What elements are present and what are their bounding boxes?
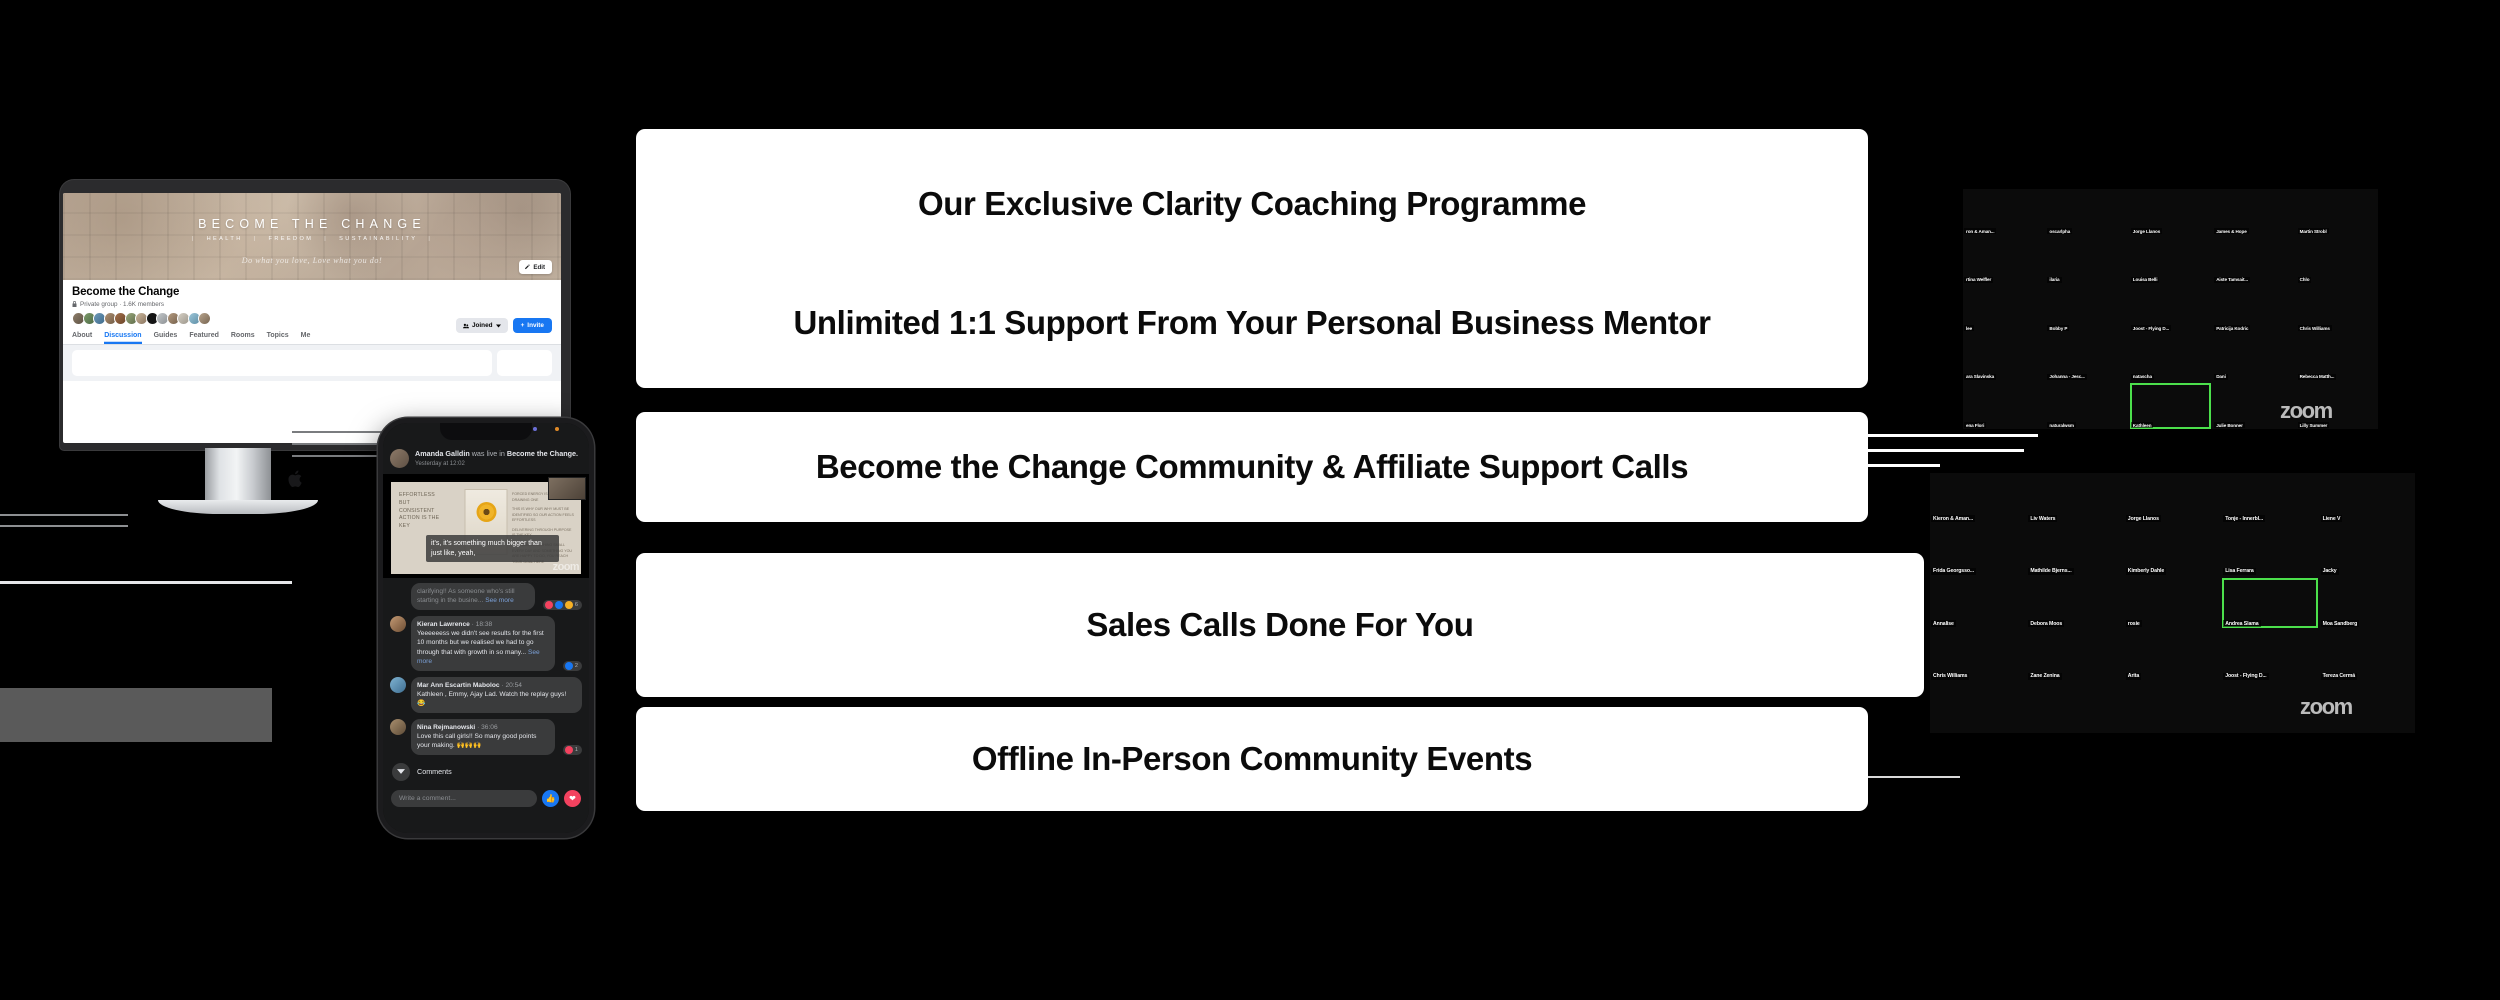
zoom-participant-tile[interactable] [1930, 683, 2025, 733]
list-item: Kieran Lawrence · 18:38 Yeeeeeess we did… [383, 613, 589, 674]
zoom-participant-tile[interactable]: ena Flori [1963, 383, 2044, 429]
participant-name-label: ena Flori [1964, 422, 1986, 428]
like-reaction-icon [555, 601, 563, 609]
participant-video [2027, 683, 2122, 733]
tab-rooms[interactable]: Rooms [231, 332, 255, 344]
edit-label: Edit [533, 264, 545, 271]
zoom-participant-tile[interactable] [2320, 683, 2415, 733]
participant-name-label: Andrea Slama [2223, 620, 2260, 627]
comments-label: Comments [417, 767, 452, 776]
zoom-participant-tile[interactable]: Liv Waters [2027, 473, 2122, 523]
cover-tag-freedom: FREEDOM [269, 236, 314, 242]
zoom-participant-tile[interactable]: Tereza Čermá [2320, 630, 2415, 680]
participant-name-label: Johanna - Jesc... [2047, 374, 2086, 380]
participant-name-label: naturalwsm [2047, 422, 2076, 428]
zoom-participant-tile[interactable]: Rebecca Matth... [2297, 334, 2378, 380]
participant-name-label: Aiste Tamsait... [2214, 277, 2250, 283]
comment-time: · 20:54 [501, 682, 522, 689]
participant-name-label: Chris Williams [1931, 673, 1969, 680]
comments-toggle-row[interactable]: Comments [383, 758, 589, 786]
tab-discussion[interactable]: Discussion [104, 332, 141, 344]
post-target-group: Become the Change. [507, 449, 578, 458]
participant-name-label: ilaria [2047, 277, 2061, 283]
post-timestamp: Yesterday at 12:02 [415, 461, 578, 467]
people-icon [463, 323, 469, 329]
zoom-participant-tile[interactable]: rtina Welfler [1963, 237, 2044, 283]
lock-icon [72, 301, 77, 307]
comment-truncated: clarifying!! As someone who's still star… [383, 578, 589, 613]
participant-video [2320, 683, 2415, 733]
live-caption: it's, it's something much bigger than ju… [426, 535, 559, 562]
participant-name-label: rtina Welfler [1964, 277, 1993, 283]
participant-name-label: Mathilde Bjerns... [2028, 568, 2073, 575]
participant-video [2222, 683, 2317, 733]
zoom-participant-tile[interactable]: Julie Bonner [2213, 383, 2294, 429]
zoom-participant-tile[interactable]: Tonje - Innerbl... [2222, 473, 2317, 523]
participant-video [2125, 683, 2220, 733]
zoom-participant-tile[interactable]: oscarlpha [2046, 189, 2127, 235]
zoom-participant-tile[interactable]: Chris Williams [1930, 630, 2025, 680]
reaction-pill[interactable]: 1 [563, 745, 582, 755]
pencil-icon [524, 264, 530, 270]
facebook-group-screen: BECOME THE CHANGE |HEALTH|FREEDOM|SUSTAI… [63, 193, 561, 443]
zoom-participant-tile[interactable]: rosie [2125, 578, 2220, 628]
like-reaction-icon [565, 662, 573, 670]
zoom-participant-tile[interactable]: Frida Georgsso... [1930, 525, 2025, 575]
participant-name-label: James & Hope [2214, 228, 2248, 234]
participant-name-label: Kieron & Aman... [1931, 515, 1975, 522]
cover-tags: |HEALTH|FREEDOM|SUSTAINABILITY| [63, 236, 561, 242]
connector-right-3 [1868, 464, 1940, 467]
invite-label: Invite [527, 322, 544, 329]
promo-canvas: BECOME THE CHANGE |HEALTH|FREEDOM|SUSTAI… [0, 0, 2500, 1000]
participant-name-label: Tereza Čermá [2321, 673, 2357, 680]
zoom-participant-tile[interactable]: Joost - Flying D... [2130, 286, 2211, 332]
participant-name-label: Dani [2214, 374, 2228, 380]
feature-card-1: Our Exclusive Clarity Coaching Programme… [636, 129, 1868, 388]
zoom-participant-tile[interactable]: Johanna - Jesc... [2046, 334, 2127, 380]
participant-name-label: Bobby P [2047, 325, 2069, 331]
zoom-participant-tile[interactable] [2222, 683, 2317, 733]
gray-band [0, 688, 272, 742]
participant-name-label: Frida Georgsso... [1931, 568, 1976, 575]
participant-video [1930, 683, 2025, 733]
slide-right-line-2: THIS IS WHY OUR WHY MUST BE IDENTIFIED S… [512, 507, 574, 524]
zoom-participant-tile[interactable]: Moa Sandberg [2320, 578, 2415, 628]
zoom-participant-tile[interactable] [2027, 683, 2122, 733]
care-reaction-icon [565, 601, 573, 609]
imac-display-body: BECOME THE CHANGE |HEALTH|FREEDOM|SUSTAI… [60, 180, 570, 450]
group-cover-photo: BECOME THE CHANGE |HEALTH|FREEDOM|SUSTAI… [63, 193, 561, 280]
participant-name-label: Louisa Belli [2131, 277, 2160, 283]
feature-title-1: Our Exclusive Clarity Coaching Programme [636, 185, 1868, 223]
feature-card-3: Sales Calls Done For You [636, 553, 1924, 697]
zoom-participant-tile[interactable]: Liene V [2320, 473, 2415, 523]
zoom-participant-tile[interactable]: Dani [2213, 334, 2294, 380]
participant-name-label: lee [1964, 325, 1974, 331]
tab-featured[interactable]: Featured [189, 332, 219, 344]
zoom-participant-tile[interactable]: ilaria [2046, 237, 2127, 283]
participant-name-label: Jacky [2321, 568, 2339, 575]
like-button[interactable]: 👍 [542, 790, 559, 807]
comment-avatar [390, 616, 406, 632]
post-headline: Amanda Galldin was live in Become the Ch… [415, 449, 578, 459]
joined-button[interactable]: Joined [456, 318, 508, 333]
status-dot-blue [533, 427, 537, 431]
slide-left-text: EFFORTLESS BUT CONSISTENT ACTION IS THE … [399, 492, 443, 531]
zoom-participant-tile[interactable]: Bobby P [2046, 286, 2127, 332]
comment-text: Yeeeeeess we didn't see results for the … [417, 630, 544, 656]
participant-name-label: Zane Zenina [2028, 673, 2061, 680]
zoom-participant-tile[interactable]: Annalise [1930, 578, 2025, 628]
chevron-down-icon[interactable] [392, 763, 410, 781]
phone-notch [440, 423, 532, 440]
comment-text: Love this call girls!! So many good poin… [417, 733, 536, 749]
participant-name-label: Tonje - Innerbl... [2223, 515, 2265, 522]
live-video-player[interactable]: EFFORTLESS BUT CONSISTENT ACTION IS THE … [383, 474, 589, 578]
feature-card-4: Offline In-Person Community Events [636, 707, 1868, 811]
phone-mockup: Amanda Galldin was live in Become the Ch… [378, 418, 594, 838]
group-name: Become the Change [72, 286, 552, 298]
participant-name-label: Joost - Flying D... [2223, 673, 2268, 680]
zoom-participant-tile[interactable]: Chlo [2297, 237, 2378, 283]
participant-name-label: oscarlpha [2047, 228, 2072, 234]
comment-avatar [390, 677, 406, 693]
zoom-participant-tile[interactable]: Kieron & Aman... [1930, 473, 2025, 523]
comment-bubble: Kieran Lawrence · 18:38 Yeeeeeess we did… [411, 616, 555, 671]
participant-name-label: Chris Williams [2298, 325, 2332, 331]
zoom-participant-tile[interactable]: Aiste Tamsait... [2213, 237, 2294, 283]
reaction-count: 1 [575, 747, 578, 753]
cover-tag-health: HEALTH [207, 236, 243, 242]
see-more-link[interactable]: See more [485, 597, 514, 604]
zoom-participant-tile[interactable]: Chris Williams [2297, 286, 2378, 332]
comment-composer-row: Write a comment... 👍 ❤ [383, 786, 589, 811]
zoom-participant-tile[interactable]: Zane Zenina [2027, 630, 2122, 680]
zoom-participant-tile[interactable]: James & Hope [2213, 189, 2294, 235]
comment-avatar [390, 719, 406, 735]
zoom-participant-tile[interactable]: Louisa Belli [2130, 237, 2211, 283]
love-reaction-icon [565, 746, 573, 754]
feature-card-2: Become the Change Community & Affiliate … [636, 412, 1868, 522]
reaction-pill[interactable]: 2 [563, 661, 582, 671]
apple-logo-icon [288, 469, 305, 489]
imac-stand-foot [158, 500, 318, 514]
edit-cover-button[interactable]: Edit [519, 260, 552, 274]
zoom-participant-tile[interactable]: natascha [2130, 334, 2211, 380]
zoom-gallery-top: ron & Aman...oscarlphaJorge LlanosJames … [1963, 189, 2378, 429]
zoom-participant-tile[interactable]: Debora Moos [2027, 578, 2122, 628]
phone-status-dots [533, 427, 559, 431]
participant-video [1963, 286, 2044, 332]
comment-time: · 18:38 [472, 621, 493, 628]
zoom-participant-tile[interactable]: Jacky [2320, 525, 2415, 575]
participant-name-label: Julie Bonner [2214, 422, 2245, 428]
participant-name-label: rosie [2126, 620, 2142, 627]
participant-name-label: Lilly Summer [2298, 422, 2330, 428]
zoom-participant-tile[interactable]: Kathleen [2130, 383, 2211, 429]
reaction-count: 2 [575, 663, 578, 669]
comment-bubble: clarifying!! As someone who's still star… [411, 583, 535, 610]
participant-name-label: natascha [2131, 374, 2154, 380]
zoom-participant-tile[interactable] [2125, 683, 2220, 733]
chevron-down-icon [496, 324, 501, 328]
participant-name-label: Joost - Flying D... [2131, 325, 2171, 331]
post-author-avatar [390, 449, 409, 468]
live-post-header: Amanda Galldin was live in Become the Ch… [383, 444, 589, 472]
status-dot-orange [555, 427, 559, 431]
desk-rail-line-2 [0, 525, 128, 527]
zoom-participant-tile[interactable]: Martin Strobl [2297, 189, 2378, 235]
group-action-buttons: Joined + Invite [456, 318, 552, 333]
connector-right-2 [1868, 449, 2024, 452]
zoom-participant-tile[interactable]: ron & Aman... [1963, 189, 2044, 235]
zoom-participant-tile[interactable]: Jorge Llanos [2130, 189, 2211, 235]
comment-author: Kieran Lawrence [417, 621, 470, 628]
connector-right-4 [1868, 776, 1960, 778]
zoom-participant-tile[interactable]: Mathilde Bjerns... [2027, 525, 2122, 575]
tab-about[interactable]: About [72, 332, 92, 344]
cover-title: BECOME THE CHANGE [63, 217, 561, 231]
invite-button[interactable]: + Invite [513, 318, 552, 333]
group-feed-area [63, 345, 561, 381]
desk-rail-line-1 [0, 514, 128, 516]
plus-icon: + [521, 322, 525, 329]
feature-title-2: Unlimited 1:1 Support From Your Personal… [636, 304, 1868, 342]
participant-name-label: Debora Moos [2028, 620, 2064, 627]
zoom-participant-tile[interactable]: Kimberly Dahle [2125, 525, 2220, 575]
participant-name-label: Annalise [1931, 620, 1956, 627]
avatar [198, 312, 211, 325]
post-author-name: Amanda Galldin [415, 449, 470, 458]
reaction-count: 6 [575, 602, 578, 608]
zoom-participant-tile[interactable]: lee [1963, 286, 2044, 332]
zoom-participant-tile[interactable]: Lilly Summer [2297, 383, 2378, 429]
zoom-gallery-bottom: Kieron & Aman...Liv WatersJorge LlanosTo… [1930, 473, 2415, 733]
zoom-watermark: zoom [553, 561, 579, 573]
zoom-participant-tile[interactable]: Andrea Slama [2222, 578, 2317, 628]
group-meta: Private group · 1.6K members [72, 301, 552, 308]
zoom-participant-tile[interactable]: Lisa Ferrara [2222, 525, 2317, 575]
comment-author: Nina Rejmanowski [417, 724, 475, 731]
participant-name-label: Lisa Ferrara [2223, 568, 2256, 575]
participant-name-label: Arita [2126, 673, 2141, 680]
composer-card[interactable] [72, 350, 492, 376]
participant-name-label: ara Slavinska [1964, 374, 1996, 380]
participant-name-label: Chlo [2298, 277, 2312, 283]
comment-bubble: Mar Ann Escartin Maboloc · 20:54 Kathlee… [411, 677, 582, 713]
tab-topics[interactable]: Topics [267, 332, 289, 344]
phone-screen: Amanda Galldin was live in Become the Ch… [383, 423, 589, 833]
speaker-pip [548, 477, 586, 500]
cover-tagline: Do what you love, Love what you do! [63, 256, 561, 265]
love-reaction-icon [545, 601, 553, 609]
participant-name-label: Moa Sandberg [2321, 620, 2360, 627]
comment-input[interactable]: Write a comment... [391, 790, 537, 807]
zoom-participant-tile[interactable]: ara Slavinska [1963, 334, 2044, 380]
list-item: Nina Rejmanowski · 36:06 Love this call … [383, 716, 589, 758]
participant-name-label: Jorge Llanos [2131, 228, 2162, 234]
participant-name-label: Kathleen [2131, 422, 2154, 428]
comment-author: Mar Ann Escartin Maboloc [417, 682, 500, 689]
group-meta-text: Private group · 1.6K members [80, 301, 164, 308]
participant-name-label: Kimberly Dahle [2126, 568, 2166, 575]
connector-right-1 [1868, 434, 2038, 437]
participant-name-label: Liene V [2321, 515, 2343, 522]
comment-time: · 36:06 [477, 724, 498, 731]
zoom-participant-tile[interactable]: Jorge Llanos [2125, 473, 2220, 523]
post-action-text: was live in [472, 449, 505, 458]
tab-more[interactable]: Me [301, 332, 311, 344]
participant-name-label: Rebecca Matth... [2298, 374, 2337, 380]
zoom-logo-bottom: zoom [2300, 694, 2352, 997]
list-item: Mar Ann Escartin Maboloc · 20:54 Kathlee… [383, 674, 589, 716]
comment-text: Kathleen , Emmy, Ajay Lad. Watch the rep… [417, 691, 566, 707]
cover-tag-sustainability: SUSTAINABILITY [339, 236, 417, 242]
tab-guides[interactable]: Guides [154, 332, 178, 344]
joined-label: Joined [472, 322, 493, 329]
participant-name-label: Liv Waters [2028, 515, 2057, 522]
heart-button[interactable]: ❤ [564, 790, 581, 807]
participant-name-label: Martin Strobl [2298, 228, 2329, 234]
participant-name-label: Patricija Kodric [2214, 325, 2250, 331]
reaction-pill[interactable]: 6 [543, 600, 582, 610]
zoom-participant-tile[interactable]: naturalwsm [2046, 383, 2127, 429]
zoom-participant-tile[interactable]: Arita [2125, 630, 2220, 680]
zoom-participant-tile[interactable]: Patricija Kodric [2213, 286, 2294, 332]
zoom-participant-tile[interactable]: Joost - Flying D... [2222, 630, 2317, 680]
feed-side-card [497, 350, 552, 376]
desk-surface-line [0, 581, 292, 584]
comment-bubble: Nina Rejmanowski · 36:06 Love this call … [411, 719, 555, 755]
participant-name-label: ron & Aman... [1964, 228, 1996, 234]
participant-name-label: Jorge Llanos [2126, 515, 2161, 522]
